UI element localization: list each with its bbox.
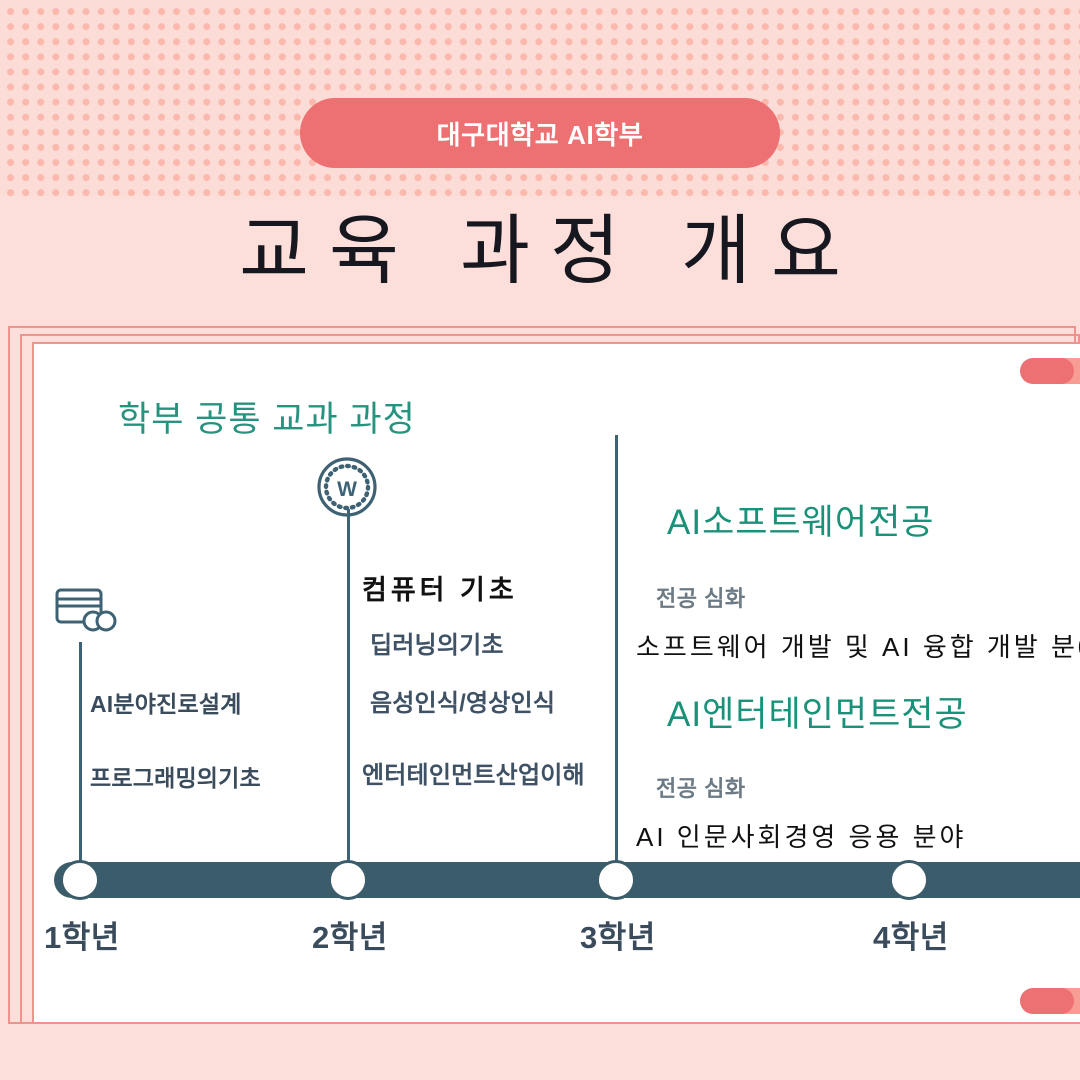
curriculum-card-inner: 학부 공통 교과 과정 AI소프트웨어전공 AI엔터테인먼트전공 W (34, 344, 1080, 1022)
timeline-label-year1: 1학년 (44, 912, 120, 957)
timeline-connector-year1 (79, 642, 82, 874)
major-subtitle-ai-software: 전공 심화 (656, 581, 746, 613)
timeline-node-year4 (889, 860, 929, 900)
timeline-node-year1 (60, 860, 100, 900)
course-year2-2: 음성인식/영상인식 (370, 683, 555, 718)
major-subtitle-ai-entertainment: 전공 심화 (656, 771, 746, 803)
pin-head (1020, 988, 1074, 1014)
course-year2-1: 딥러닝의기초 (370, 625, 504, 660)
page-title: 교육 과정 개요 (0, 214, 1080, 290)
course-year2-heading: 컴퓨터 기초 (362, 568, 518, 607)
pin-head (1020, 358, 1074, 384)
timeline-connector-year2 (347, 509, 350, 874)
course-year2-3: 엔터테인먼트산업이해 (362, 755, 585, 790)
timeline-label-year3: 3학년 (580, 912, 656, 957)
major-heading-ai-entertainment: AI엔터테인먼트전공 (667, 686, 968, 737)
major-description-ai-software: 소프트웨어 개발 및 AI 융합 개발 분0 (636, 627, 1080, 664)
timeline-label-year2: 2학년 (312, 912, 388, 957)
university-badge-label: 대구대학교 AI학부 (437, 115, 644, 152)
common-curriculum-heading: 학부 공통 교과 과정 (118, 391, 416, 442)
university-badge: 대구대학교 AI학부 (300, 98, 780, 168)
timeline-node-year3 (596, 860, 636, 900)
course-year1-2: 프로그래밍의기초 (90, 759, 261, 793)
credit-card-icon (54, 584, 118, 645)
timeline-node-year2 (328, 860, 368, 900)
timeline-connector-year3 (615, 435, 618, 874)
major-heading-ai-software: AI소프트웨어전공 (667, 494, 934, 545)
major-description-ai-entertainment: AI 인문사회경영 응용 분야 (636, 817, 966, 854)
course-year1-1: AI분야진로설계 (90, 685, 242, 719)
timeline-label-year4: 4학년 (873, 912, 949, 957)
curriculum-card: 학부 공통 교과 과정 AI소프트웨어전공 AI엔터테인먼트전공 W (32, 342, 1080, 1024)
svg-text:W: W (337, 478, 357, 501)
